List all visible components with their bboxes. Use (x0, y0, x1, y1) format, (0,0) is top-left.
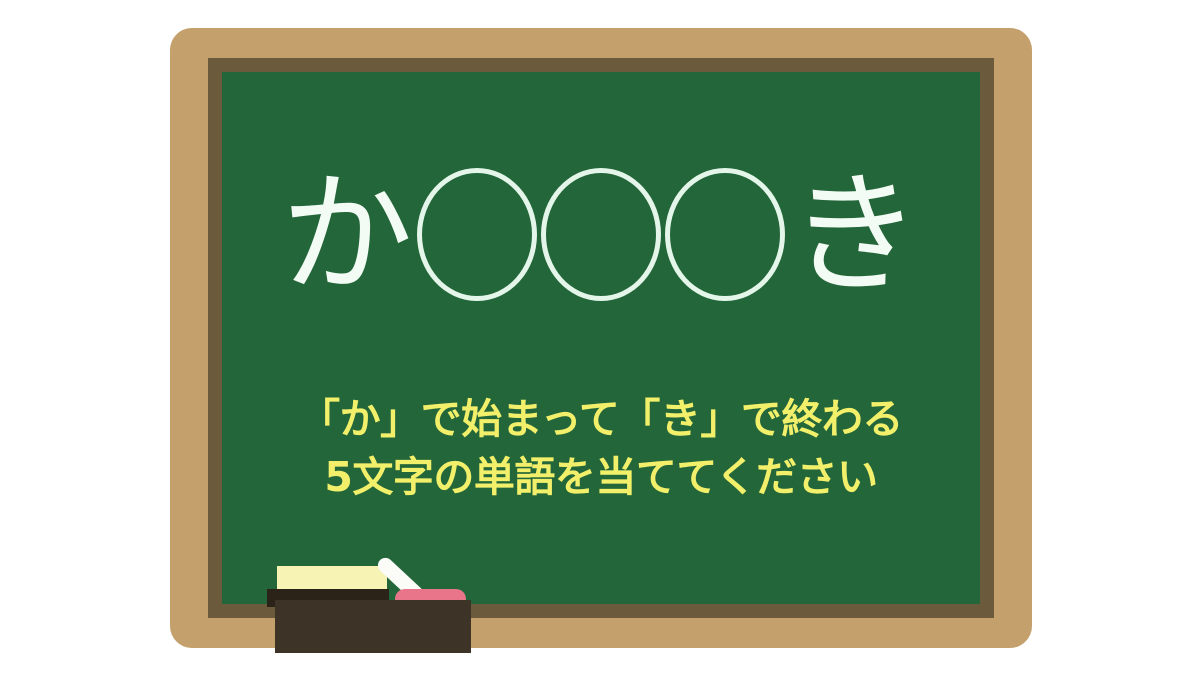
instruction-line-2: 5文字の単語を当ててください (222, 448, 980, 506)
blackboard-surface: か き 「か」で始まって「き」で終わる 5文字の単語を当ててください (222, 72, 980, 604)
blackboard-bevel: か き 「か」で始まって「き」で終わる 5文字の単語を当ててください (208, 58, 994, 618)
blackboard-scene: か き 「か」で始まって「き」で終わる 5文字の単語を当ててください (0, 0, 1200, 700)
blank-circle-1[interactable] (417, 168, 537, 301)
blackboard-frame: か き 「か」で始まって「き」で終わる 5文字の単語を当ててください (170, 28, 1032, 648)
blank-circle-3[interactable] (665, 168, 785, 301)
eraser-felt[interactable] (277, 566, 387, 590)
puzzle-last-kana: き (789, 169, 921, 301)
chalk-tray-base (275, 600, 471, 653)
instruction-text: 「か」で始まって「き」で終わる 5文字の単語を当ててください (222, 390, 980, 506)
puzzle-row: か き (222, 168, 980, 301)
blank-circle-2[interactable] (541, 168, 661, 301)
puzzle-first-kana: か (281, 169, 413, 301)
instruction-line-1: 「か」で始まって「き」で終わる (222, 390, 980, 448)
